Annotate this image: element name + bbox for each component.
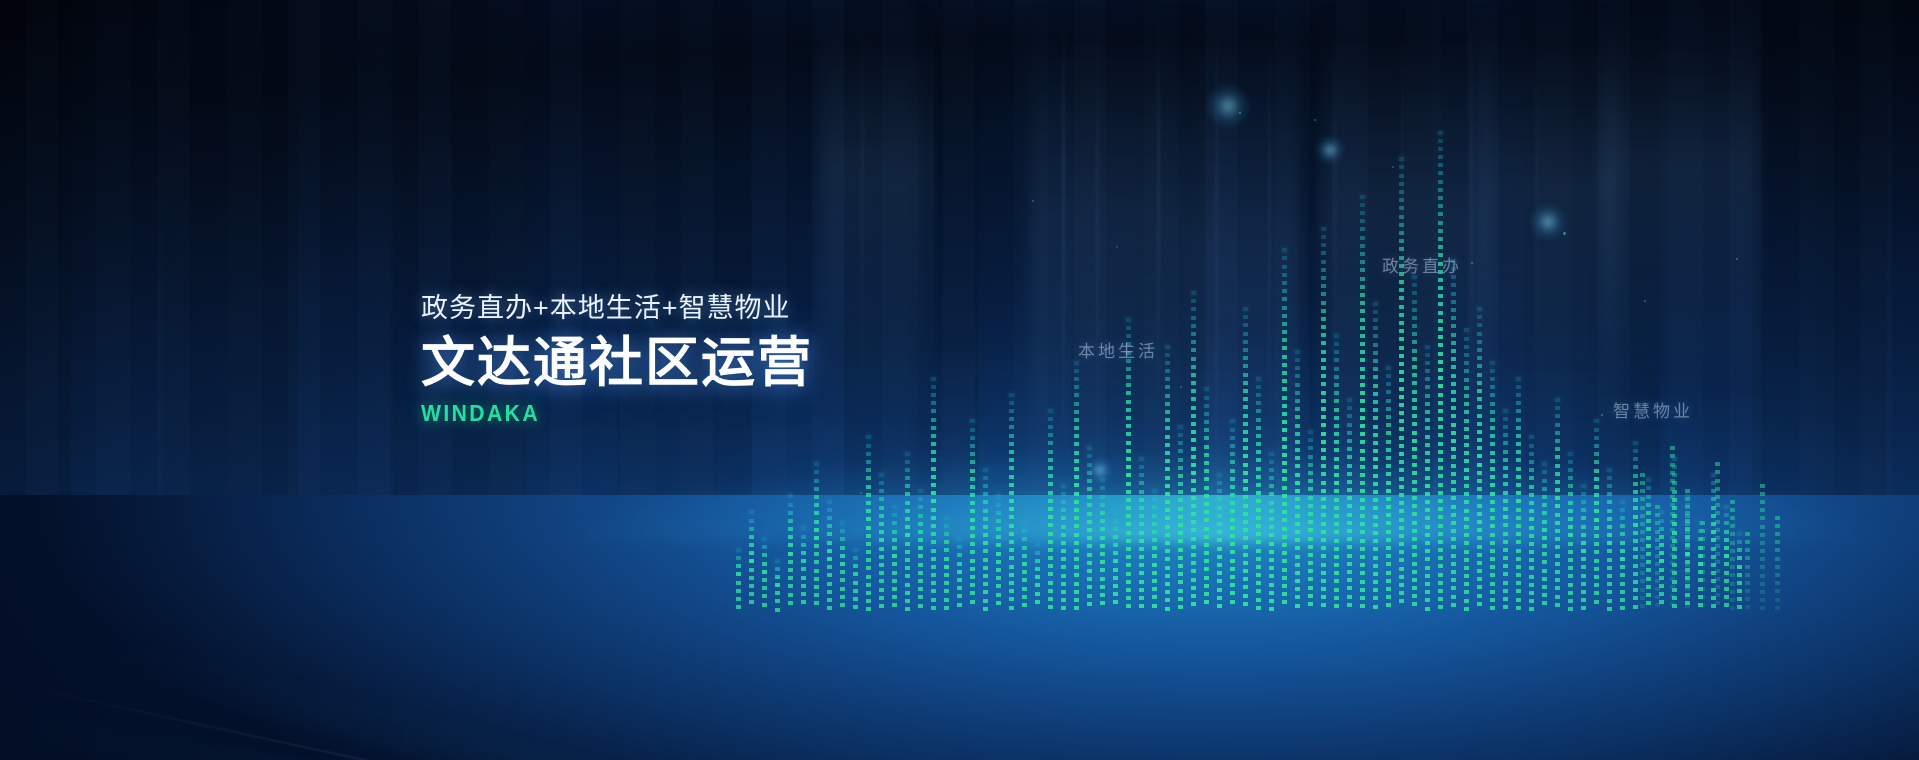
hero-banner: 本地生活 政务直办 智慧物业 政务直办+本地生活+智慧物业 文达通社区运营 WI…	[0, 0, 1919, 760]
vignette-overlay	[0, 0, 1919, 760]
